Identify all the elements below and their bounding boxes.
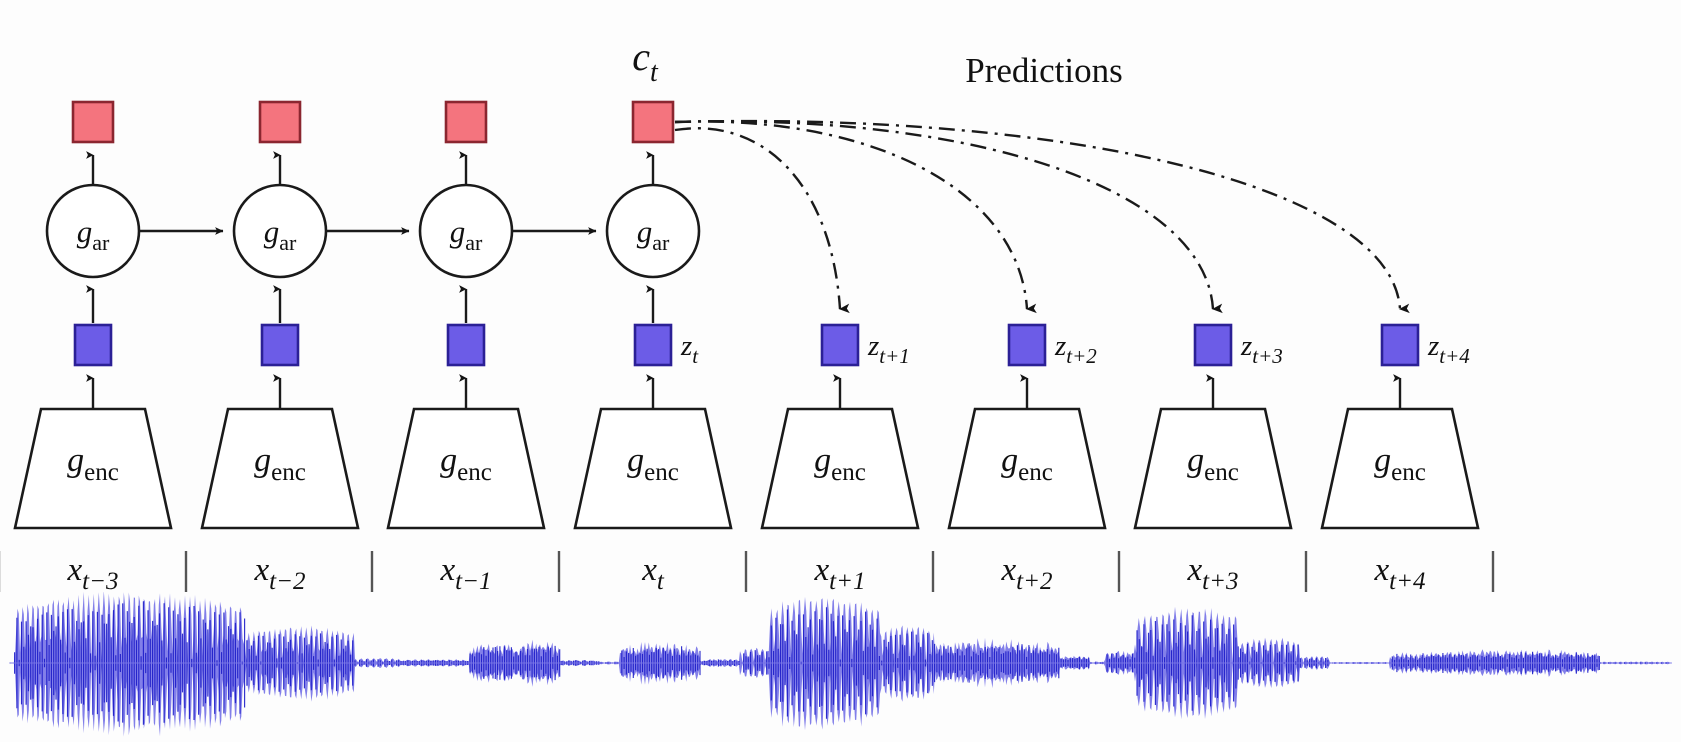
context-square-1 xyxy=(260,102,300,142)
input-label-6: xt+3 xyxy=(1187,552,1239,595)
input-label-7: xt+4 xyxy=(1374,552,1426,595)
input-label-2: xt−1 xyxy=(440,552,492,595)
context-square-0 xyxy=(73,102,113,142)
latent-square-6 xyxy=(1195,325,1231,365)
context-vector-label: ct xyxy=(632,34,659,88)
input-label-0: xt−3 xyxy=(67,552,119,595)
encoder-block-7: genc xyxy=(1322,409,1478,528)
input-label-1: xt−2 xyxy=(254,552,306,595)
context-square-3 xyxy=(633,102,673,142)
latent-label-3: zt xyxy=(680,330,699,368)
input-label-4: xt+1 xyxy=(814,552,866,595)
prediction-arcs xyxy=(675,121,1400,309)
diagram-canvas: gencgencgencgencgencgencgencgencgargarga… xyxy=(0,0,1681,742)
prediction-arc-4 xyxy=(675,121,1400,309)
encoder-block-0: genc xyxy=(15,409,171,528)
encoder-block-4: genc xyxy=(762,409,918,528)
autoregressive-node-1: gar xyxy=(234,185,326,277)
prediction-arc-1 xyxy=(675,128,840,309)
encoder-block-1: genc xyxy=(202,409,358,528)
latent-square-2 xyxy=(448,325,484,365)
encoder-block-5: genc xyxy=(949,409,1105,528)
encoder-block-3: genc xyxy=(575,409,731,528)
latent-square-3 xyxy=(635,325,671,365)
autoregressive-node-3: gar xyxy=(607,185,699,277)
node-shapes: gencgencgencgencgencgencgencgencgargarga… xyxy=(15,102,1478,528)
encoder-block-6: genc xyxy=(1135,409,1291,528)
latent-square-1 xyxy=(262,325,298,365)
latent-square-0 xyxy=(75,325,111,365)
prediction-arc-3 xyxy=(675,121,1213,309)
latent-square-7 xyxy=(1382,325,1418,365)
encoder-block-2: genc xyxy=(388,409,544,528)
latent-label-5: zt+2 xyxy=(1054,330,1097,368)
audio-waveform xyxy=(10,591,1672,737)
context-square-2 xyxy=(446,102,486,142)
input-label-3: xt xyxy=(641,552,665,595)
predictions-annotation: Predictions xyxy=(965,51,1122,90)
input-label-5: xt+2 xyxy=(1001,552,1053,595)
cpc-architecture-figure: gencgencgencgencgencgencgencgencgargarga… xyxy=(0,0,1681,742)
prediction-arc-2 xyxy=(675,121,1027,309)
latent-label-4: zt+1 xyxy=(867,330,910,368)
latent-square-5 xyxy=(1009,325,1045,365)
autoregressive-node-0: gar xyxy=(47,185,139,277)
latent-label-7: zt+4 xyxy=(1427,330,1470,368)
autoregressive-node-2: gar xyxy=(420,185,512,277)
latent-square-4 xyxy=(822,325,858,365)
latent-label-6: zt+3 xyxy=(1240,330,1283,368)
